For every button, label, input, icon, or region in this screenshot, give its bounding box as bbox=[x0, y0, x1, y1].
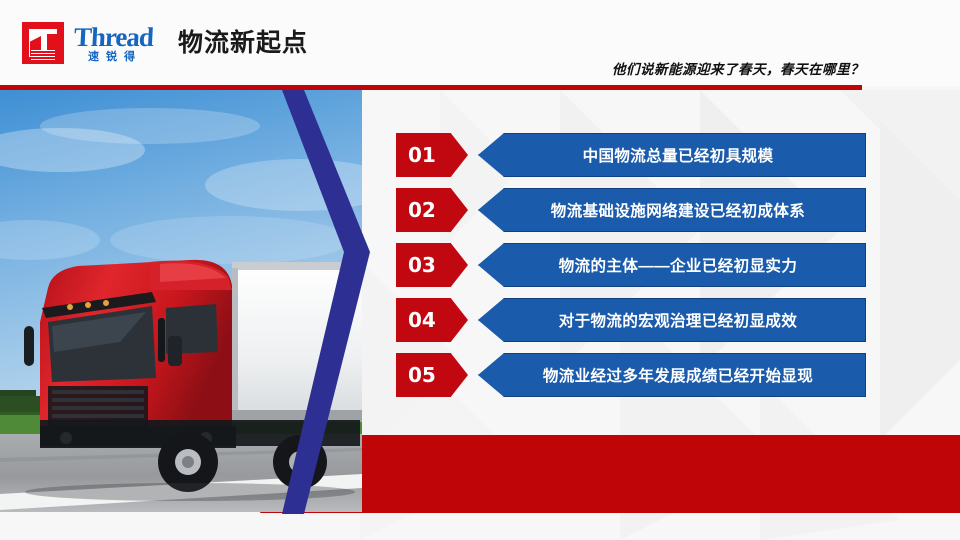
list-item-bar[interactable]: 物流业经过多年发展成绩已经开始显现 bbox=[478, 353, 866, 397]
blue-chevron-accent bbox=[282, 90, 382, 514]
list-item-number: 01 bbox=[396, 133, 436, 177]
brand-name-cn: 速锐得 bbox=[74, 51, 153, 63]
numbered-list: 01 中国物流总量已经初具规模 02 物流基础设施网络建设已经初成体系 03 物… bbox=[396, 133, 876, 397]
list-item-bar[interactable]: 对于物流的宏观治理已经初显成效 bbox=[478, 298, 866, 342]
list-item-label: 物流的主体——企业已经初显实力 bbox=[479, 254, 865, 276]
list-item-bar[interactable]: 中国物流总量已经初具规模 bbox=[478, 133, 866, 177]
list-item[interactable]: 04 对于物流的宏观治理已经初显成效 bbox=[396, 298, 876, 342]
list-item[interactable]: 01 中国物流总量已经初具规模 bbox=[396, 133, 876, 177]
list-item-label: 对于物流的宏观治理已经初显成效 bbox=[479, 309, 865, 331]
list-item-number-badge: 05 bbox=[396, 353, 468, 397]
brand-logo-text: Thread 速锐得 bbox=[74, 24, 153, 63]
list-item[interactable]: 03 物流的主体——企业已经初显实力 bbox=[396, 243, 876, 287]
list-item-number: 04 bbox=[396, 298, 436, 342]
slide-header: Thread 速锐得 物流新起点 他们说新能源迎来了春天，春天在哪里？ bbox=[0, 0, 960, 86]
list-item-label: 物流基础设施网络建设已经初成体系 bbox=[479, 199, 865, 221]
list-item-number-badge: 04 bbox=[396, 298, 468, 342]
header-divider-rule bbox=[0, 85, 862, 90]
list-item-label: 中国物流总量已经初具规模 bbox=[479, 144, 865, 166]
list-item[interactable]: 05 物流业经过多年发展成绩已经开始显现 bbox=[396, 353, 876, 397]
list-item-number-badge: 01 bbox=[396, 133, 468, 177]
list-item-number: 03 bbox=[396, 243, 436, 287]
list-item-number: 05 bbox=[396, 353, 436, 397]
list-item-bar[interactable]: 物流的主体——企业已经初显实力 bbox=[478, 243, 866, 287]
brand-logo[interactable]: Thread 速锐得 bbox=[22, 22, 153, 64]
slide-subtitle: 他们说新能源迎来了春天，春天在哪里？ bbox=[612, 58, 864, 78]
list-item-label: 物流业经过多年发展成绩已经开始显现 bbox=[479, 364, 865, 386]
thread-square-logo-icon bbox=[22, 22, 64, 64]
page-title: 物流新起点 bbox=[178, 26, 308, 60]
list-item-bar[interactable]: 物流基础设施网络建设已经初成体系 bbox=[478, 188, 866, 232]
list-item-number-badge: 02 bbox=[396, 188, 468, 232]
list-item[interactable]: 02 物流基础设施网络建设已经初成体系 bbox=[396, 188, 876, 232]
list-item-number: 02 bbox=[396, 188, 436, 232]
list-item-number-badge: 03 bbox=[396, 243, 468, 287]
brand-name-en: Thread bbox=[73, 24, 153, 50]
slide-root: Thread 速锐得 物流新起点 他们说新能源迎来了春天，春天在哪里？ bbox=[0, 0, 960, 540]
